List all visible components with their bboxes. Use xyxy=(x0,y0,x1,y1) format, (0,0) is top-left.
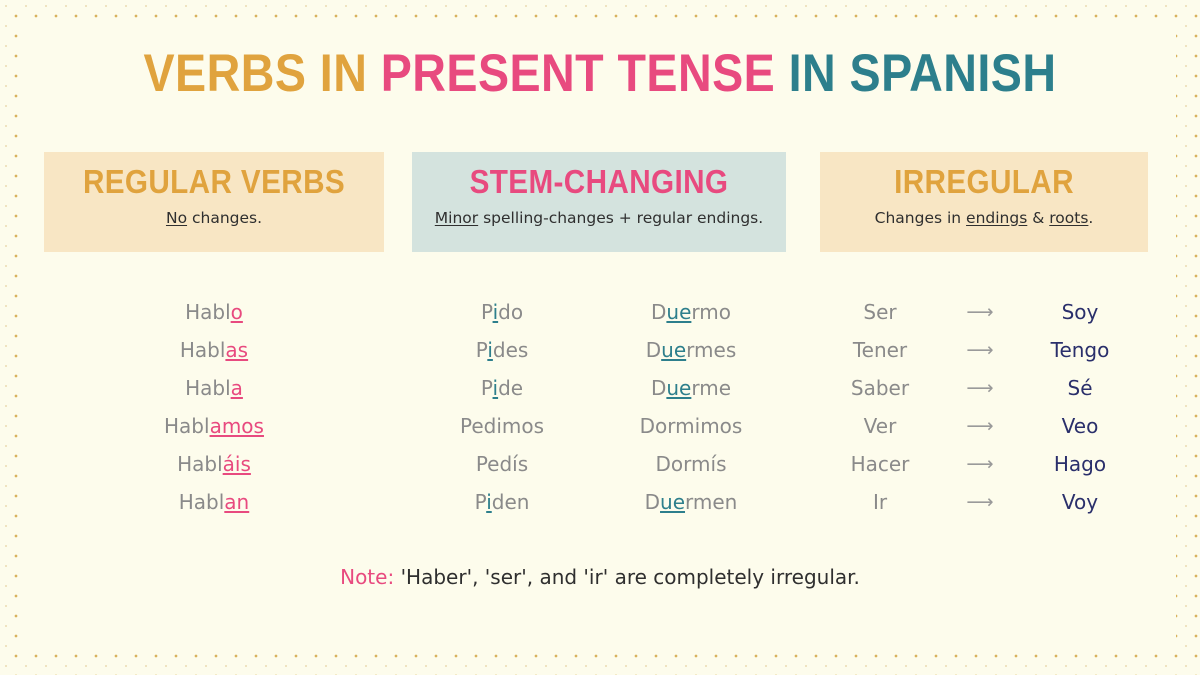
arrow-icon: ⟶ xyxy=(940,303,1020,322)
conjugation-row: Habla xyxy=(44,369,384,407)
arrow-icon: ⟶ xyxy=(940,417,1020,436)
header-subtitle-regular-rest: changes. xyxy=(187,209,262,227)
conjugation-list-pedir: PidoPidesPidePedimosPedísPiden xyxy=(412,293,592,521)
footer-note-label: Note: xyxy=(340,565,400,589)
verb-ending: do xyxy=(498,300,523,324)
conjugation-row: Pide xyxy=(412,369,592,407)
stem-change: ue xyxy=(661,338,686,362)
title-segment-teal: IN SPANISH xyxy=(775,44,1056,103)
conjugated-verb: Soy xyxy=(1020,293,1140,331)
verb-ending: des xyxy=(493,338,528,362)
verb-ending: áis xyxy=(223,452,251,476)
conjugated-verb: Veo xyxy=(1020,407,1140,445)
header-subtitle-irregular-underlined-2: roots xyxy=(1049,209,1088,227)
header-title-regular: REGULAR VERBS xyxy=(61,165,367,200)
header-subtitle-regular-underlined: No xyxy=(166,209,187,227)
header-subtitle-irregular: Changes in endings & roots. xyxy=(820,209,1148,228)
verb-stem: Habl xyxy=(164,414,210,438)
infinitive-verb: Hacer xyxy=(820,445,940,483)
verb-stem: Habl xyxy=(185,300,231,324)
verb-stem: P xyxy=(481,300,493,324)
verb-ending: o xyxy=(231,300,243,324)
page-title: VERBS IN PRESENT TENSE IN SPANISH xyxy=(93,47,1107,100)
infinitive-verb: Tener xyxy=(820,331,940,369)
header-box-irregular: IRREGULAR Changes in endings & roots. xyxy=(820,152,1148,252)
conjugation-row: Hablamos xyxy=(44,407,384,445)
irregular-row: Ver⟶Veo xyxy=(820,407,1148,445)
infinitive-verb: Saber xyxy=(820,369,940,407)
conjugated-verb: Sé xyxy=(1020,369,1140,407)
verb-ending: rmes xyxy=(686,338,736,362)
content-card: VERBS IN PRESENT TENSE IN SPANISH REGULA… xyxy=(24,25,1176,647)
conjugation-row: Piden xyxy=(412,483,592,521)
verb-stem: Pedimos xyxy=(460,414,544,438)
conjugation-row: Duerme xyxy=(596,369,786,407)
conjugation-columns: HabloHablasHablaHablamosHabláisHablan Pi… xyxy=(24,293,1176,528)
verb-ending: an xyxy=(224,490,249,514)
header-subtitle-irregular-underlined-1: endings xyxy=(966,209,1027,227)
arrow-icon: ⟶ xyxy=(940,493,1020,512)
header-box-stem-changing: STEM-CHANGING Minor spelling-changes + r… xyxy=(412,152,786,252)
header-subtitle-stem-changing: Minor spelling-changes + regular endings… xyxy=(412,209,786,228)
header-title-irregular: IRREGULAR xyxy=(836,165,1131,200)
conjugation-row: Hablan xyxy=(44,483,384,521)
title-segment-pink: PRESENT TENSE xyxy=(381,44,775,103)
stem-change: ue xyxy=(666,300,691,324)
conjugation-row: Dormimos xyxy=(596,407,786,445)
infinitive-verb: Ver xyxy=(820,407,940,445)
verb-ending: as xyxy=(225,338,248,362)
conjugation-row: Pides xyxy=(412,331,592,369)
stem-change: ue xyxy=(660,490,685,514)
verb-ending: a xyxy=(231,376,243,400)
verb-stem: Dormís xyxy=(656,452,727,476)
verb-stem: P xyxy=(475,490,487,514)
verb-stem: Habl xyxy=(179,490,225,514)
verb-stem: Habl xyxy=(177,452,223,476)
verb-stem: P xyxy=(481,376,493,400)
header-box-regular: REGULAR VERBS No changes. xyxy=(44,152,384,252)
verb-ending: rmen xyxy=(685,490,737,514)
header-subtitle-irregular-suffix: . xyxy=(1088,209,1093,227)
footer-note: Note: 'Haber', 'ser', and 'ir' are compl… xyxy=(24,565,1176,589)
verb-stem: D xyxy=(645,490,660,514)
infinitive-verb: Ser xyxy=(820,293,940,331)
conjugation-row: Dormís xyxy=(596,445,786,483)
header-subtitle-stem-rest: spelling-changes + regular endings. xyxy=(478,209,763,227)
conjugation-list-irregular: Ser⟶SoyTener⟶TengoSaber⟶SéVer⟶VeoHacer⟶H… xyxy=(820,293,1148,521)
stem-change: ue xyxy=(666,376,691,400)
verb-stem: D xyxy=(646,338,661,362)
conjugation-row: Habláis xyxy=(44,445,384,483)
conjugated-verb: Tengo xyxy=(1020,331,1140,369)
infinitive-verb: Ir xyxy=(820,483,940,521)
verb-ending: amos xyxy=(210,414,264,438)
header-subtitle-stem-underlined: Minor xyxy=(435,209,478,227)
conjugation-row: Hablas xyxy=(44,331,384,369)
verb-stem: Pedís xyxy=(476,452,528,476)
conjugated-verb: Voy xyxy=(1020,483,1140,521)
conjugation-row: Pedimos xyxy=(412,407,592,445)
conjugation-list-dormir: DuermoDuermesDuermeDormimosDormísDuermen xyxy=(596,293,786,521)
conjugation-list-hablar: HabloHablasHablaHablamosHabláisHablan xyxy=(44,293,384,521)
conjugation-row: Duermes xyxy=(596,331,786,369)
header-subtitle-irregular-middle: & xyxy=(1027,209,1049,227)
verb-ending: rmo xyxy=(691,300,731,324)
conjugation-row: Duermen xyxy=(596,483,786,521)
verb-stem: D xyxy=(651,300,666,324)
irregular-row: Saber⟶Sé xyxy=(820,369,1148,407)
verb-ending: de xyxy=(498,376,523,400)
header-subtitle-regular: No changes. xyxy=(44,209,384,228)
arrow-icon: ⟶ xyxy=(940,455,1020,474)
header-subtitle-irregular-prefix: Changes in xyxy=(875,209,966,227)
conjugation-row: Hablo xyxy=(44,293,384,331)
verb-stem: Habl xyxy=(185,376,231,400)
conjugation-row: Pido xyxy=(412,293,592,331)
title-segment-gold: VERBS IN xyxy=(144,44,381,103)
arrow-icon: ⟶ xyxy=(940,341,1020,360)
arrow-icon: ⟶ xyxy=(940,379,1020,398)
verb-ending: rme xyxy=(691,376,731,400)
verb-stem: Dormimos xyxy=(640,414,743,438)
irregular-row: Tener⟶Tengo xyxy=(820,331,1148,369)
header-title-stem-changing: STEM-CHANGING xyxy=(431,165,768,200)
irregular-row: Hacer⟶Hago xyxy=(820,445,1148,483)
verb-stem: D xyxy=(651,376,666,400)
infographic-page: VERBS IN PRESENT TENSE IN SPANISH REGULA… xyxy=(0,0,1200,675)
verb-ending: den xyxy=(492,490,530,514)
conjugation-row: Duermo xyxy=(596,293,786,331)
verb-stem: P xyxy=(476,338,488,362)
footer-note-text: 'Haber', 'ser', and 'ir' are completely … xyxy=(401,565,860,589)
verb-stem: Habl xyxy=(180,338,226,362)
conjugated-verb: Hago xyxy=(1020,445,1140,483)
irregular-row: Ir⟶Voy xyxy=(820,483,1148,521)
irregular-row: Ser⟶Soy xyxy=(820,293,1148,331)
conjugation-row: Pedís xyxy=(412,445,592,483)
